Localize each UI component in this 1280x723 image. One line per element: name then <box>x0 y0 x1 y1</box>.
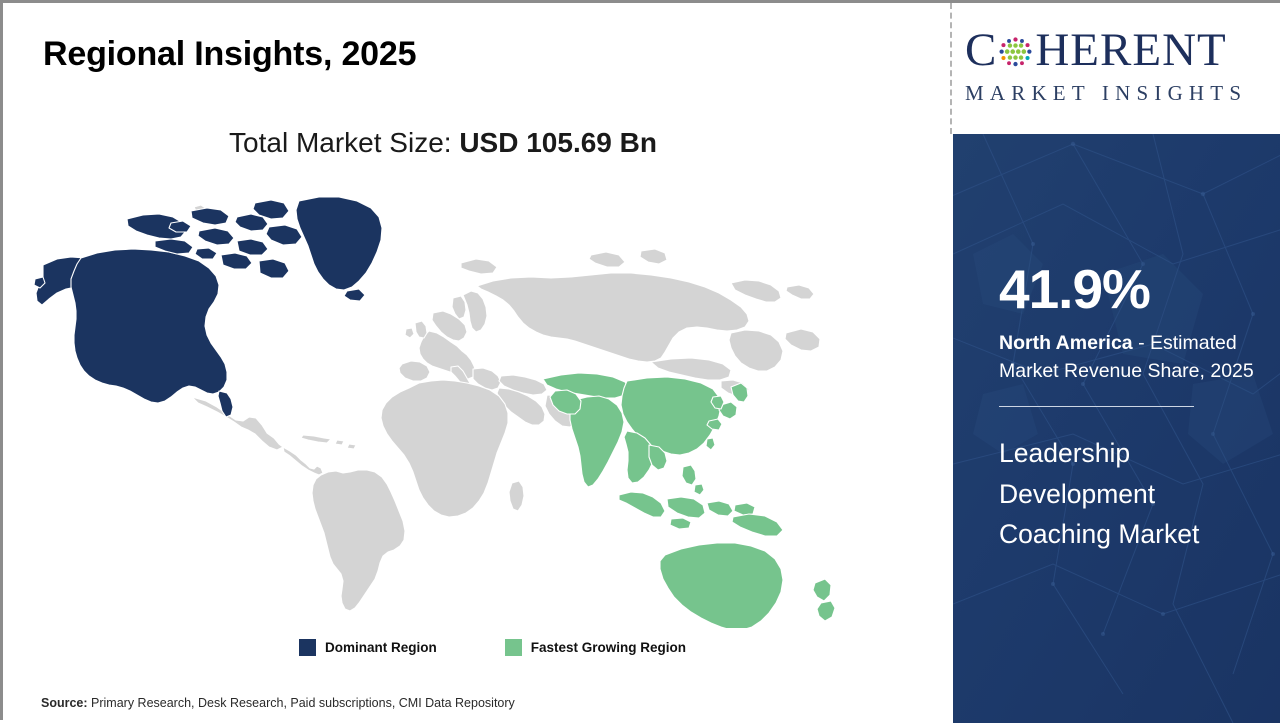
stat-divider <box>999 406 1194 407</box>
legend-item-fastest-growing-region: Fastest Growing Region <box>505 639 686 656</box>
sidebar-content: 41.9% North America - Estimated Market R… <box>999 134 1271 555</box>
left-panel: Regional Insights, 2025 Total Market Siz… <box>3 3 950 723</box>
brand-logo-wordmark: C <box>965 21 1265 79</box>
source-note: Source: Primary Research, Desk Research,… <box>41 696 515 710</box>
stat-value: 41.9% <box>999 262 1271 317</box>
legend-item-dominant-region: Dominant Region <box>299 639 437 656</box>
source-label: Source: <box>41 696 88 710</box>
legend-label-dominant-region: Dominant Region <box>325 640 437 655</box>
market-name: Leadership Development Coaching Market <box>999 433 1264 555</box>
total-market-size: Total Market Size: USD 105.69 Bn <box>3 127 883 159</box>
panel-divider <box>950 3 952 134</box>
brand-logo-tagline: MARKET INSIGHTS <box>965 81 1265 106</box>
globe-dots-icon <box>997 34 1034 71</box>
sidebar-stat-panel: 41.9% North America - Estimated Market R… <box>953 134 1280 723</box>
map-region-asia-pacific <box>543 373 835 628</box>
brand-logo: C <box>965 21 1265 116</box>
source-text: Primary Research, Desk Research, Paid su… <box>88 696 515 710</box>
brand-logo-letter-c: C <box>965 27 997 74</box>
legend-label-fastest-growing-region: Fastest Growing Region <box>531 640 686 655</box>
page-title: Regional Insights, 2025 <box>43 35 416 74</box>
map-region-north-america <box>34 197 382 417</box>
total-market-size-value: USD 105.69 Bn <box>459 127 657 158</box>
map-legend: Dominant Region Fastest Growing Region <box>299 639 686 656</box>
world-map <box>31 183 851 628</box>
brand-logo-letters-herent: HERENT <box>1035 27 1226 74</box>
infographic-frame: Regional Insights, 2025 Total Market Siz… <box>0 0 1280 720</box>
dominant-region-swatch <box>299 639 316 656</box>
stat-caption: North America - Estimated Market Revenue… <box>999 330 1267 385</box>
total-market-size-label: Total Market Size: <box>229 127 459 158</box>
stat-region-name: North America <box>999 332 1133 354</box>
fastest-growing-region-swatch <box>505 639 522 656</box>
